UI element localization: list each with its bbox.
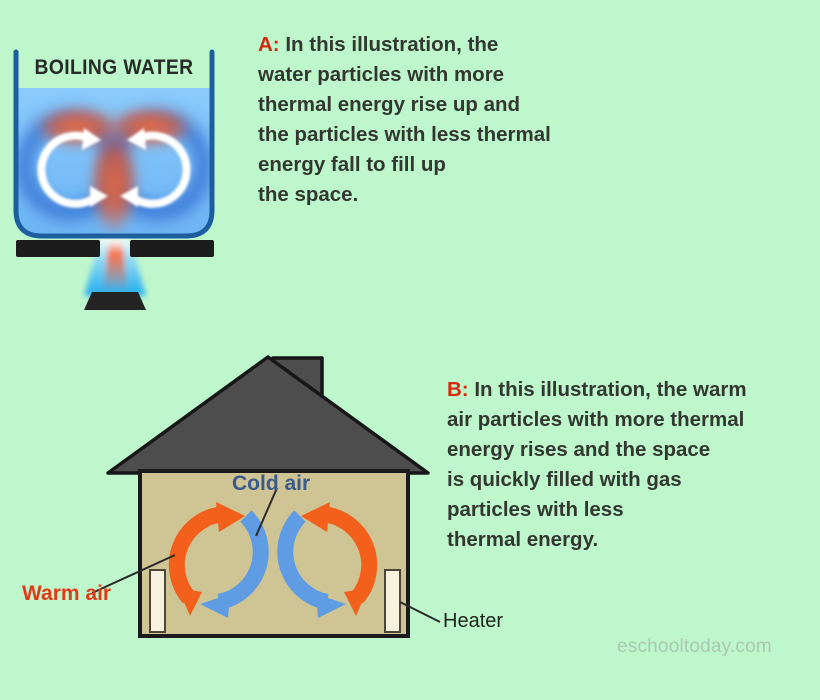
burner-stand: [84, 292, 146, 310]
roof: [108, 357, 428, 473]
burner-bar-right: [130, 240, 214, 257]
heater-left: [150, 570, 165, 632]
cold-air-label: Cold air: [232, 472, 310, 496]
watermark: eschooltoday.com: [617, 636, 772, 658]
burner-bar-left: [16, 240, 100, 257]
boiling-water-illustration: BOILING WATER: [0, 0, 240, 320]
pot-title: BOILING WATER: [9, 56, 219, 80]
caption-b-tag: B:: [447, 378, 469, 401]
caption-b-text: In this illustration, the warm air parti…: [447, 378, 747, 551]
caption-b: B: In this illustration, the warm air pa…: [447, 375, 812, 555]
caption-a-tag: A:: [258, 33, 280, 56]
diagram-canvas: BOILING WATER A: In this illustration, t…: [0, 0, 820, 700]
heater-right: [385, 570, 400, 632]
heater-label: Heater: [443, 610, 503, 633]
warm-air-label: Warm air: [22, 582, 111, 606]
pot-graphic: [0, 0, 240, 320]
caption-a-text: In this illustration, the water particle…: [258, 33, 551, 206]
caption-a: A: In this illustration, the water parti…: [258, 30, 608, 210]
